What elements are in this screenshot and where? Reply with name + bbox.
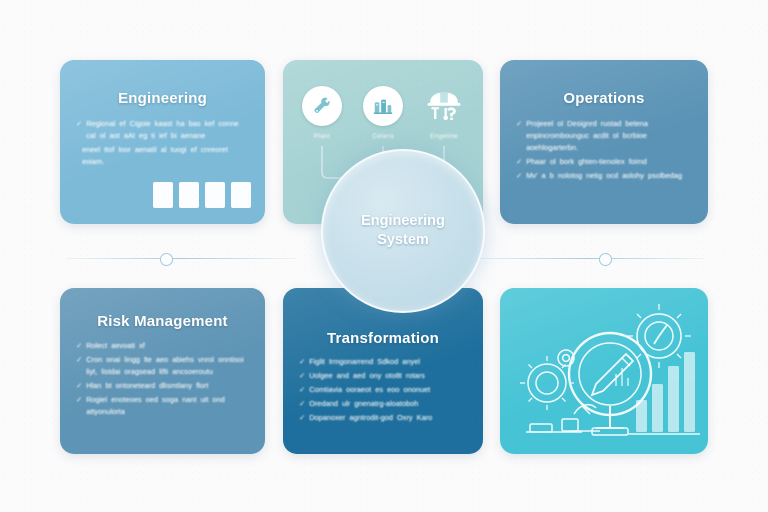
hardhat-safety-icon	[424, 87, 464, 125]
bullet-item: ✓ Mv' a b nolotog netig ocd aolohy psolb…	[516, 170, 694, 182]
connector-rail-left	[66, 258, 296, 259]
check-icon: ✓	[76, 340, 82, 352]
bullet-text: Uolgee and aed ony oto8t rotars	[309, 370, 469, 382]
industrial-tanks-icon	[372, 95, 394, 117]
bullet-item: ✓ Projeeel ol Designrd rustad betena enp…	[516, 118, 694, 154]
check-icon: ✓	[299, 412, 305, 424]
bullet-text: Comtiavia ooraeot es eoo ononuet	[309, 384, 469, 396]
connector-rail-right	[472, 258, 704, 259]
bullet-item: eneel ttof loor aenatil al tuogi ef cnre…	[76, 144, 251, 168]
card-visual-illustration[interactable]	[500, 288, 708, 454]
bullet-item: ✓ Regional ef Cigoie kaast ha bas kef co…	[76, 118, 251, 142]
card-risk-bullets: ✓ Rolect aevoati xf ✓ Cron onai lingg lt…	[76, 340, 251, 420]
bar-chart-icon	[636, 352, 695, 432]
bullet-text: eneel ttof loor aenatil al tuogi ef cnre…	[82, 144, 251, 168]
bullet-item: ✓ Hlan bt ontoneteard dlismtlany flort	[76, 380, 251, 392]
bullet-text: Projeeel ol Designrd rustad betena enpin…	[526, 118, 694, 154]
connector-node-left	[160, 253, 173, 266]
icon-bubble	[363, 86, 403, 126]
bullet-text: Hlan bt ontoneteard dlismtlany flort	[86, 380, 251, 392]
icon-bubble	[424, 86, 464, 126]
bullet-text: Dopanoxer agntrodit-god Oxry Karo	[309, 412, 469, 424]
gear-icon	[520, 356, 574, 410]
bullet-text: Regional ef Cigoie kaast ha bas kef conn…	[86, 118, 251, 142]
card-operations-bullets: ✓ Projeeel ol Designrd rustad betena enp…	[516, 118, 694, 184]
card-engineering-bullets: ✓ Regional ef Cigoie kaast ha bas kef co…	[76, 118, 251, 170]
engineering-analytics-illustration	[500, 288, 708, 454]
bullet-text: Figlit Irmgonarrend Sdkod anyel	[309, 356, 469, 368]
engineering-block-row	[153, 182, 251, 208]
block-square	[179, 182, 199, 208]
check-icon: ✓	[516, 156, 522, 168]
check-icon: ✓	[516, 118, 522, 154]
icon-bubble	[302, 86, 342, 126]
check-icon: ✓	[76, 354, 82, 378]
discipline-label: Engeline	[415, 133, 473, 140]
bullet-item: ✓ Rogiel enoteoes oed soga nant uit ond …	[76, 394, 251, 418]
card-risk-title: Risk Management	[60, 313, 265, 330]
bullet-text: Cron onai lingg lte aeo abiehs vnrol onn…	[86, 354, 251, 378]
infographic-canvas: Engineering ✓ Regional ef Cigoie kaast h…	[0, 0, 768, 512]
bullet-text: Rolect aevoati xf	[86, 340, 251, 352]
bullet-text: Oredand ulr gnenatrg-aloatoboh	[309, 398, 469, 410]
block-square	[205, 182, 225, 208]
bullet-text: Phaar ol bork ghten-tienolex foimd	[526, 156, 694, 168]
bullet-text: Mv' a b nolotog netig ocd aolohy psolbed…	[526, 170, 694, 182]
check-icon: ✓	[299, 370, 305, 382]
connector-node-right	[599, 253, 612, 266]
bullet-item: ✓ Figlit Irmgonarrend Sdkod anyel	[299, 356, 469, 368]
bullet-item: ✓ Comtiavia ooraeot es eoo ononuet	[299, 384, 469, 396]
bullet-item: ✓ Phaar ol bork ghten-tienolex foimd	[516, 156, 694, 168]
bullet-item: ✓ Dopanoxer agntrodit-god Oxry Karo	[299, 412, 469, 424]
discipline-item-cetera[interactable]: Cetera	[354, 86, 412, 140]
card-operations[interactable]: Operations ✓ Projeeel ol Designrd rustad…	[500, 60, 708, 224]
hub-label-line1: Engineering	[361, 213, 445, 229]
discipline-item-engeline[interactable]: Engeline	[415, 86, 473, 140]
check-icon-spacer	[76, 144, 78, 168]
hub-label-line2: System	[377, 232, 429, 248]
bullet-item: ✓ Rolect aevoati xf	[76, 340, 251, 352]
card-engineering-title: Engineering	[60, 90, 265, 107]
bullet-item: ✓ Oredand ulr gnenatrg-aloatoboh	[299, 398, 469, 410]
bullet-text: Rogiel enoteoes oed soga nant uit ond at…	[86, 394, 251, 418]
discipline-item-plant[interactable]: Plant	[293, 86, 351, 140]
pen-icon	[592, 354, 633, 395]
block-square	[231, 182, 251, 208]
wrench-tool-icon	[311, 95, 333, 117]
check-icon: ✓	[76, 118, 82, 142]
discipline-label: Cetera	[354, 133, 412, 140]
check-icon: ✓	[299, 398, 305, 410]
hub-circle[interactable]: Engineering System	[321, 149, 485, 313]
central-hub[interactable]: Engineering System	[300, 203, 464, 317]
discipline-label: Plant	[293, 133, 351, 140]
card-risk-management[interactable]: Risk Management ✓ Rolect aevoati xf ✓ Cr…	[60, 288, 265, 454]
check-icon: ✓	[516, 170, 522, 182]
card-transformation-bullets: ✓ Figlit Irmgonarrend Sdkod anyel ✓ Uolg…	[299, 356, 469, 426]
check-icon: ✓	[299, 356, 305, 368]
card-transformation-title: Transformation	[283, 330, 483, 347]
bullet-item: ✓ Cron onai lingg lte aeo abiehs vnrol o…	[76, 354, 251, 378]
hub-label: Engineering System	[361, 212, 445, 249]
check-icon: ✓	[299, 384, 305, 396]
block-square	[153, 182, 173, 208]
check-icon: ✓	[76, 380, 82, 392]
check-icon: ✓	[76, 394, 82, 418]
card-engineering[interactable]: Engineering ✓ Regional ef Cigoie kaast h…	[60, 60, 265, 224]
bullet-item: ✓ Uolgee and aed ony oto8t rotars	[299, 370, 469, 382]
card-operations-title: Operations	[500, 90, 708, 107]
